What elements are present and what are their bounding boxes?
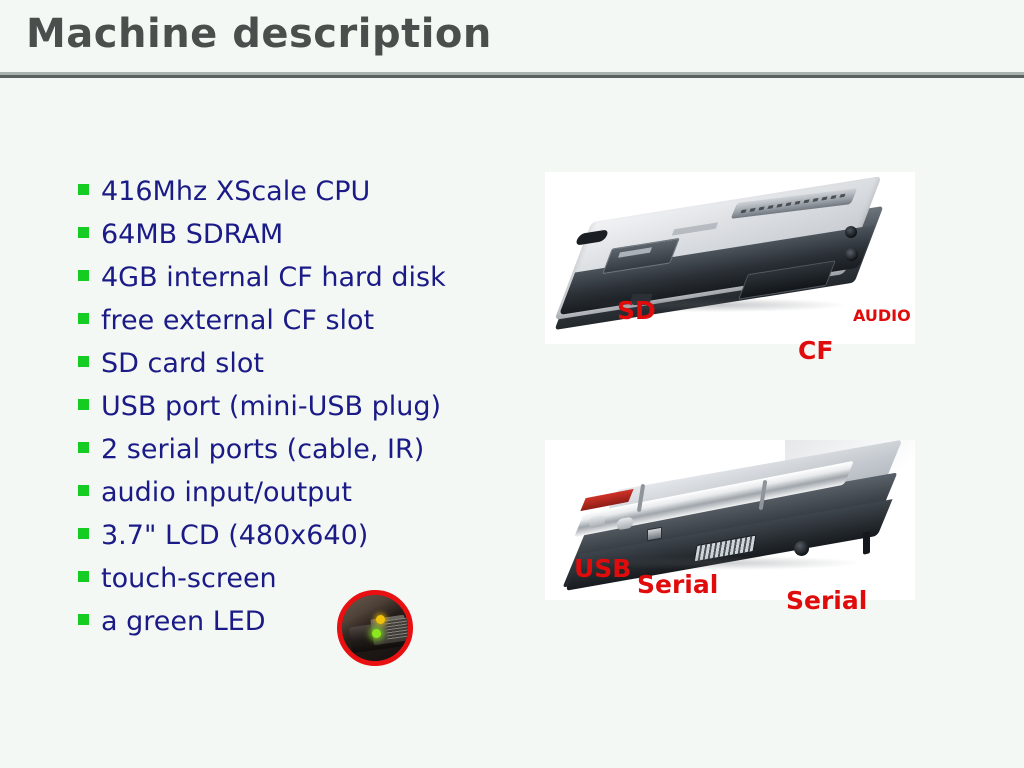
green-led-closeup-photo	[337, 590, 413, 666]
bullet-square-icon	[78, 528, 89, 539]
list-item-label: 4GB internal CF hard disk	[101, 264, 446, 291]
bullet-square-icon	[78, 313, 89, 324]
list-item: 416Mhz XScale CPU	[78, 178, 528, 221]
list-item: 2 serial ports (cable, IR)	[78, 436, 528, 479]
spec-bullet-list: 416Mhz XScale CPU 64MB SDRAM 4GB interna…	[78, 178, 528, 651]
list-item-label: audio input/output	[101, 479, 352, 506]
annotation-serial-ir: Serial	[786, 588, 867, 613]
bullet-square-icon	[78, 442, 89, 453]
list-item: USB port (mini-USB plug)	[78, 393, 528, 436]
annotation-serial-cable: Serial	[637, 572, 718, 597]
device-shadow	[597, 556, 859, 570]
title-rule-shadow	[0, 75, 1024, 78]
annotation-audio: AUDIO	[853, 308, 911, 324]
list-item: free external CF slot	[78, 307, 528, 350]
bullet-square-icon	[78, 399, 89, 410]
list-item: touch-screen	[78, 565, 528, 608]
bullet-square-icon	[78, 227, 89, 238]
bullet-square-icon	[78, 614, 89, 625]
list-item-label: free external CF slot	[101, 307, 374, 334]
list-item-label: a green LED	[101, 608, 266, 635]
annotation-sd: SD	[617, 298, 656, 323]
page-title: Machine description	[26, 11, 492, 57]
list-item-label: 64MB SDRAM	[101, 221, 283, 248]
annotation-cf: CF	[798, 338, 833, 363]
list-item: 4GB internal CF hard disk	[78, 264, 528, 307]
list-item: SD card slot	[78, 350, 528, 393]
annotation-usb: USB	[574, 556, 631, 581]
device-side-slot	[863, 531, 870, 554]
list-item: a green LED	[78, 608, 528, 651]
list-item-label: 3.7" LCD (480x640)	[101, 522, 368, 549]
list-item-label: SD card slot	[101, 350, 264, 377]
list-item: 64MB SDRAM	[78, 221, 528, 264]
list-item: audio input/output	[78, 479, 528, 522]
slide: Machine description 416Mhz XScale CPU 64…	[0, 0, 1024, 768]
serial-port-ir	[794, 541, 809, 556]
bullet-square-icon	[78, 571, 89, 582]
list-item: 3.7" LCD (480x640)	[78, 522, 528, 565]
list-item-label: touch-screen	[101, 565, 277, 592]
bullet-square-icon	[78, 270, 89, 281]
amber-led-icon	[376, 615, 385, 624]
list-item-label: USB port (mini-USB plug)	[101, 393, 441, 420]
audio-jack-upper	[845, 226, 857, 238]
bullet-square-icon	[78, 485, 89, 496]
list-item-label: 2 serial ports (cable, IR)	[101, 436, 424, 463]
title-block: Machine description	[0, 0, 1024, 82]
green-led-icon	[372, 629, 381, 638]
list-item-label: 416Mhz XScale CPU	[101, 178, 370, 205]
audio-jack-lower	[845, 248, 858, 261]
led-vent-stripes	[385, 618, 410, 641]
bullet-square-icon	[78, 356, 89, 367]
bullet-square-icon	[78, 184, 89, 195]
